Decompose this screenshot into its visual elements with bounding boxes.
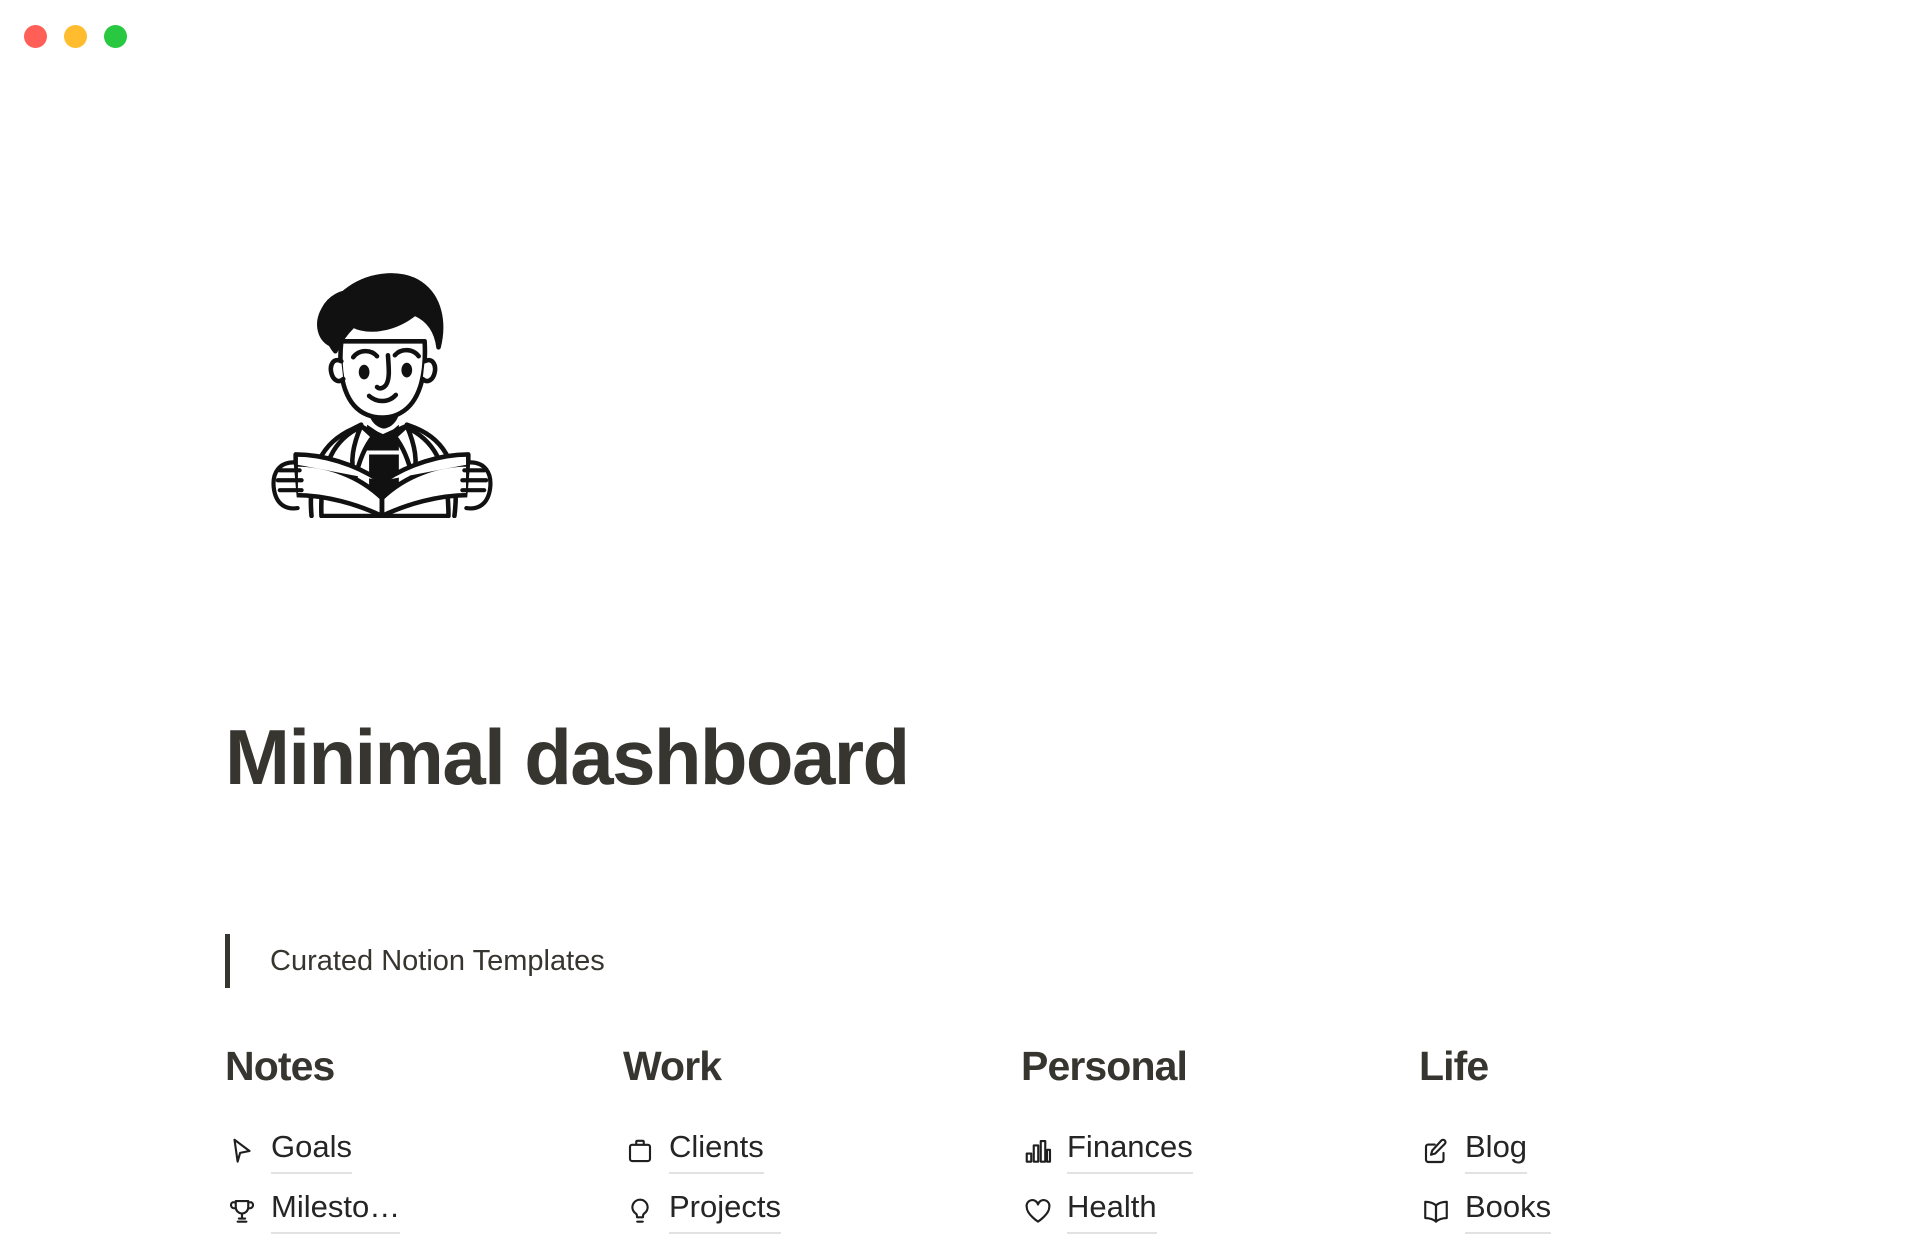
link-label: Projects [669, 1188, 781, 1234]
link-books[interactable]: Books [1419, 1181, 1817, 1241]
link-milestones[interactable]: Milesto… [225, 1181, 623, 1241]
link-finances[interactable]: Finances [1021, 1121, 1419, 1181]
link-label: Books [1465, 1188, 1551, 1234]
close-button[interactable] [24, 25, 47, 48]
link-label: Blog [1465, 1128, 1527, 1174]
column-title-personal: Personal [1021, 1044, 1419, 1090]
link-label: Milesto… [271, 1188, 400, 1234]
trophy-icon [225, 1194, 259, 1228]
maximize-button[interactable] [104, 25, 127, 48]
lightbulb-icon [623, 1194, 657, 1228]
column-notes: Notes Goals [225, 1044, 623, 1241]
window-title-bar [0, 0, 1920, 72]
minimize-button[interactable] [64, 25, 87, 48]
column-life: Life Blog [1419, 1044, 1817, 1241]
link-label: Finances [1067, 1128, 1193, 1174]
heart-icon [1021, 1194, 1055, 1228]
briefcase-icon [623, 1134, 657, 1168]
page-title: Minimal dashboard [225, 717, 909, 799]
bar-chart-icon [1021, 1134, 1055, 1168]
link-projects[interactable]: Projects [623, 1181, 1021, 1241]
page-body: Minimal dashboard Curated Notion Templat… [0, 72, 1920, 1200]
traffic-light-group [24, 25, 127, 48]
column-work: Work Clients [623, 1044, 1021, 1241]
person-reading-book-illustration[interactable] [250, 250, 508, 518]
link-columns: Notes Goals [225, 1044, 1845, 1241]
open-book-icon [1419, 1194, 1453, 1228]
link-label: Health [1067, 1188, 1157, 1234]
column-title-notes: Notes [225, 1044, 623, 1090]
column-personal: Personal Finances [1021, 1044, 1419, 1241]
quote-block: Curated Notion Templates [225, 934, 605, 988]
link-clients[interactable]: Clients [623, 1121, 1021, 1181]
link-goals[interactable]: Goals [225, 1121, 623, 1181]
link-label: Goals [271, 1128, 352, 1174]
column-title-life: Life [1419, 1044, 1817, 1090]
link-label: Clients [669, 1128, 764, 1174]
pencil-square-icon [1419, 1134, 1453, 1168]
column-title-work: Work [623, 1044, 1021, 1090]
link-health[interactable]: Health [1021, 1181, 1419, 1241]
link-blog[interactable]: Blog [1419, 1121, 1817, 1181]
cursor-triangle-icon [225, 1134, 259, 1168]
quote-text: Curated Notion Templates [230, 934, 605, 988]
